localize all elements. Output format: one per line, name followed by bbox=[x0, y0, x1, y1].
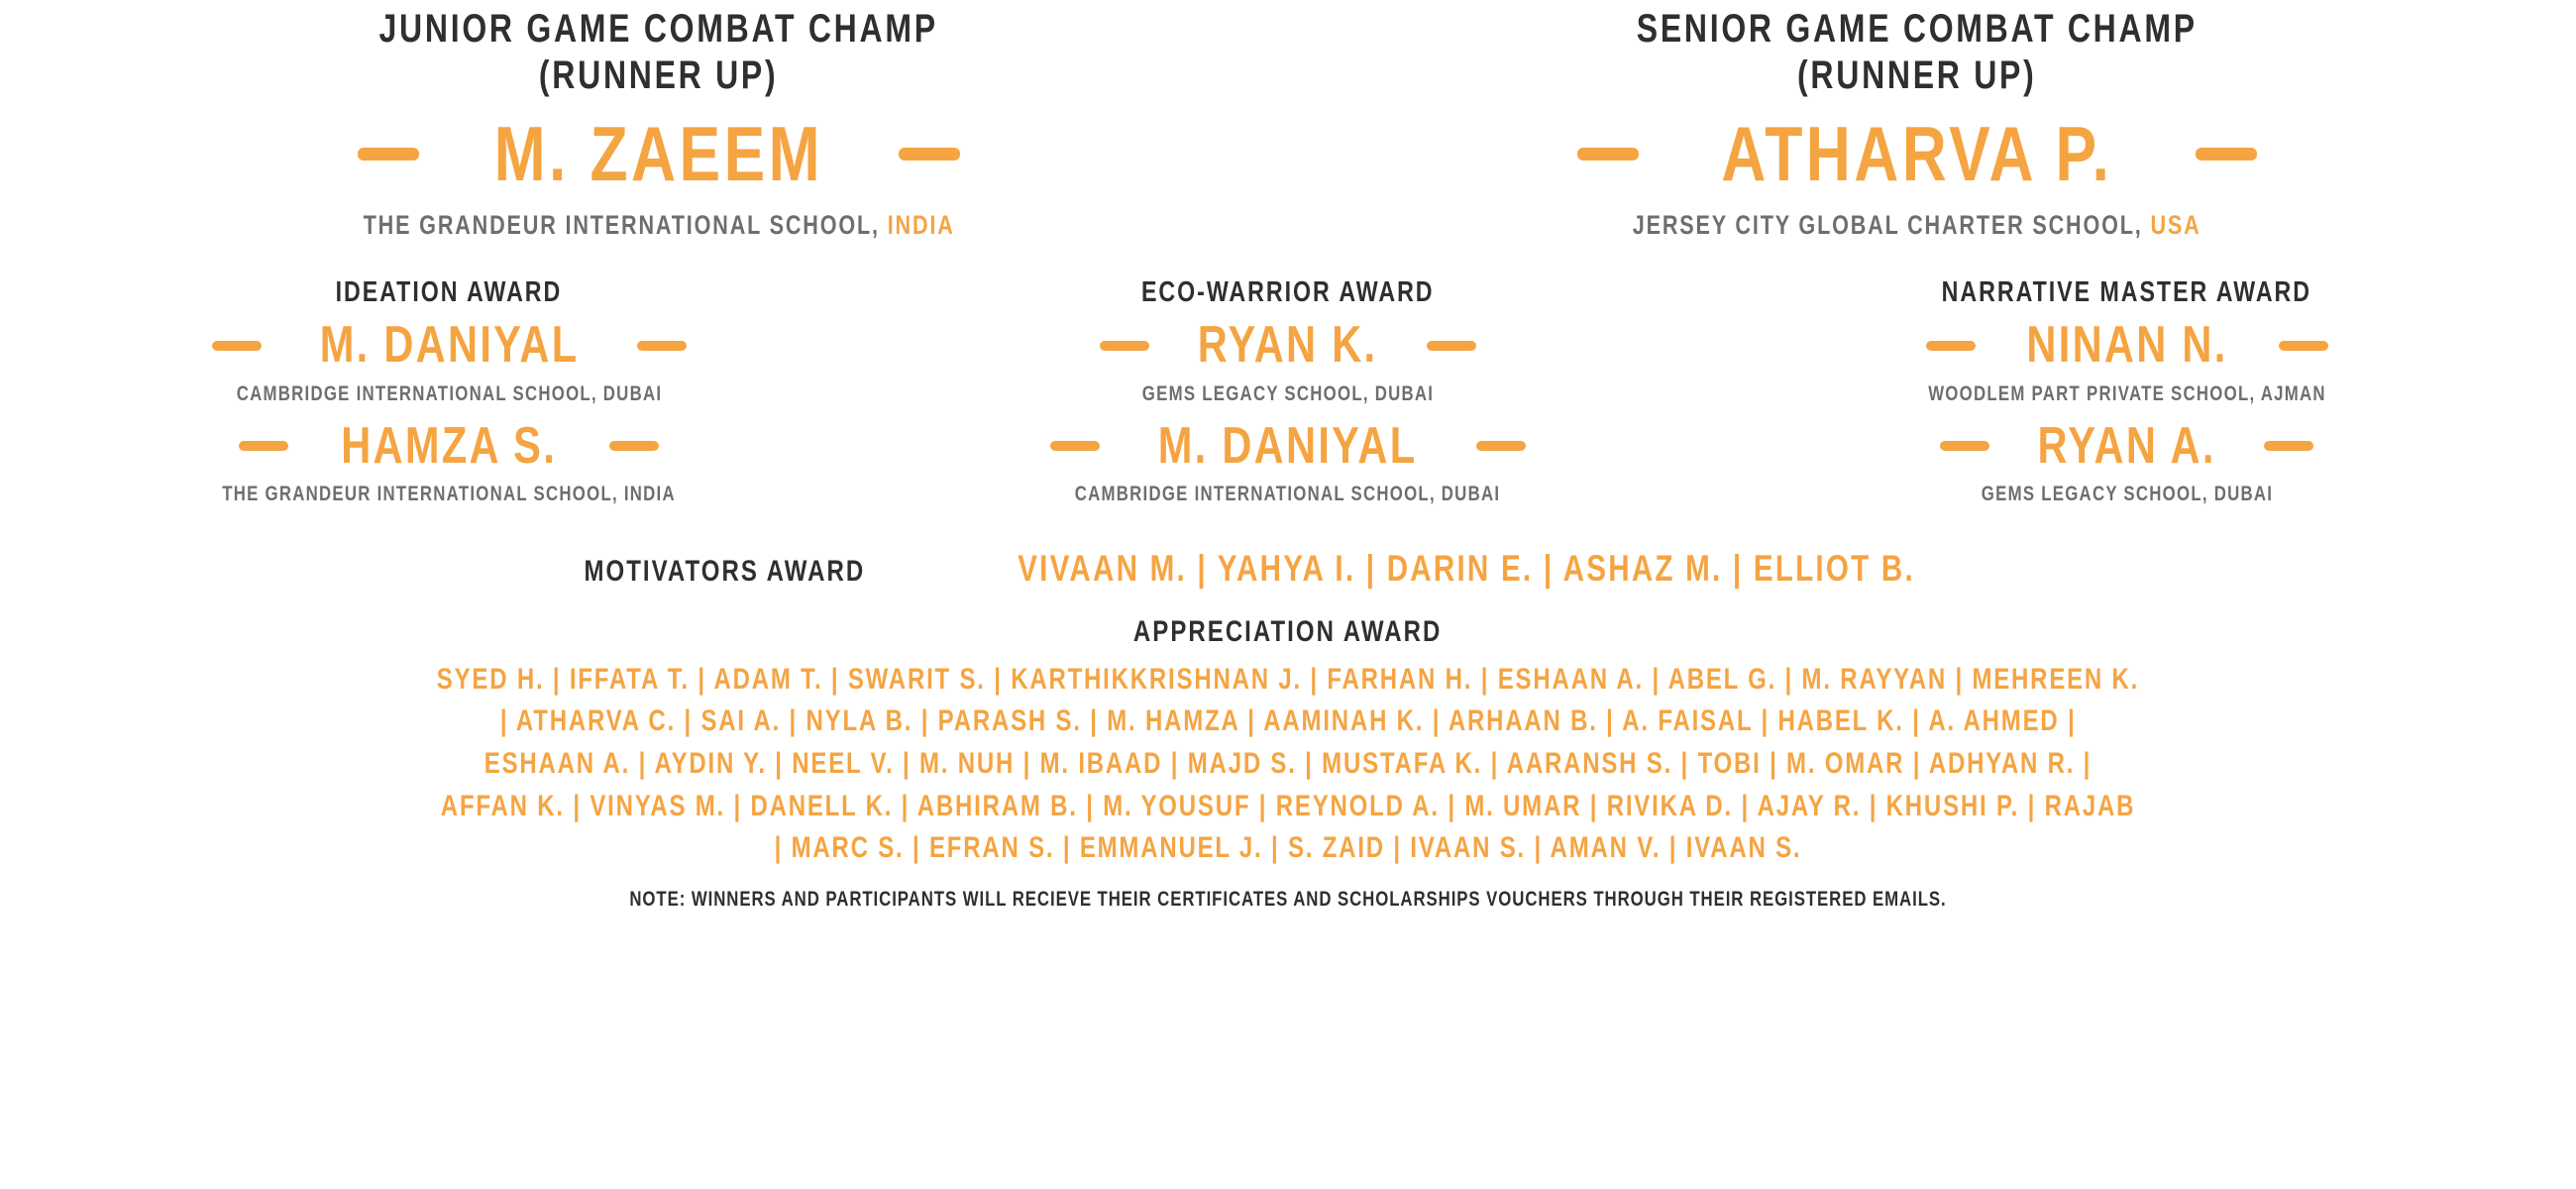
award-winner-school: WOODLEM PART PRIVATE SCHOOL, AJMAN bbox=[1928, 382, 2326, 406]
appreciation-names-line: | MARC S. | EFRAN S. | EMMANUEL J. | S. … bbox=[775, 827, 1802, 870]
dash-left-icon bbox=[1050, 441, 1100, 451]
appreciation-names-line: ESHAAN A. | AYDIN Y. | NEEL V. | M. NUH … bbox=[484, 743, 2092, 786]
champion-title-line2: (RUNNER UP) bbox=[1637, 53, 2198, 99]
school-location: USA bbox=[2151, 210, 2201, 240]
appreciation-names-block: SYED H. | IFFATA T. | ADAM T. | SWARIT S… bbox=[30, 659, 2546, 870]
school-name: JERSEY CITY GLOBAL CHARTER SCHOOL, bbox=[1633, 210, 2143, 240]
award-winner-school: THE GRANDEUR INTERNATIONAL SCHOOL, INDIA bbox=[223, 483, 677, 506]
award-title-narrative-master: NARRATIVE MASTER AWARD bbox=[1942, 276, 2311, 309]
award-winner-school: CAMBRIDGE INTERNATIONAL SCHOOL, DUBAI bbox=[237, 382, 663, 406]
award-name-row: M. DANIYAL bbox=[30, 317, 869, 374]
award-name-row: RYAN K. bbox=[869, 317, 1708, 374]
motivators-award-title: MOTIVATORS AWARD bbox=[585, 555, 866, 589]
dash-right-icon bbox=[1427, 341, 1476, 351]
school-location: INDIA bbox=[888, 210, 955, 240]
dash-left-icon bbox=[1940, 441, 1989, 451]
motivators-award-section: MOTIVATORS AWARD VIVAAN M. | YAHYA I. | … bbox=[30, 536, 2546, 590]
dash-left-icon bbox=[239, 441, 288, 451]
appreciation-award-title: APPRECIATION AWARD bbox=[1133, 615, 1442, 649]
champions-section: JUNIOR GAME COMBAT CHAMP (RUNNER UP) M. … bbox=[30, 0, 2546, 241]
award-winner-name: M. DANIYAL bbox=[1158, 418, 1418, 475]
award-name-row: NINAN N. bbox=[1707, 317, 2546, 374]
champion-name-senior: ATHARVA P. bbox=[1722, 115, 2113, 192]
award-title-eco-warrior: ECO-WARRIOR AWARD bbox=[1141, 276, 1435, 309]
dash-left-icon bbox=[1100, 341, 1149, 351]
dash-right-icon bbox=[2196, 148, 2257, 161]
champion-card-senior: SENIOR GAME COMBAT CHAMP (RUNNER UP) ATH… bbox=[1288, 6, 2546, 241]
award-entry: RYAN K. GEMS LEGACY SCHOOL, DUBAI bbox=[869, 317, 1708, 405]
award-entry: M. DANIYAL CAMBRIDGE INTERNATIONAL SCHOO… bbox=[869, 418, 1708, 506]
award-column-ideation: IDEATION AWARD M. DANIYAL CAMBRIDGE INTE… bbox=[30, 276, 869, 505]
award-winner-name: NINAN N. bbox=[2026, 317, 2227, 374]
award-column-narrative-master: NARRATIVE MASTER AWARD NINAN N. WOODLEM … bbox=[1707, 276, 2546, 505]
motivators-names-line: VIVAAN M. | YAHYA I. | DARIN E. | ASHAZ … bbox=[1018, 548, 1915, 590]
awards-results-board: JUNIOR GAME COMBAT CHAMP (RUNNER UP) M. … bbox=[0, 0, 2576, 1189]
dash-right-icon bbox=[2279, 341, 2328, 351]
award-entry: NINAN N. WOODLEM PART PRIVATE SCHOOL, AJ… bbox=[1707, 317, 2546, 405]
champion-school-junior: THE GRANDEUR INTERNATIONAL SCHOOL, INDIA bbox=[363, 210, 954, 241]
champion-title-line1: JUNIOR GAME COMBAT CHAMP bbox=[379, 6, 938, 53]
dash-left-icon bbox=[212, 341, 262, 351]
award-winner-name: RYAN A. bbox=[2038, 418, 2216, 475]
dash-left-icon bbox=[358, 148, 419, 161]
dash-left-icon bbox=[1577, 148, 1639, 161]
appreciation-names-line: AFFAN K. | VINYAS M. | DANELL K. | ABHIR… bbox=[441, 786, 2135, 828]
champion-school-senior: JERSEY CITY GLOBAL CHARTER SCHOOL, USA bbox=[1633, 210, 2201, 241]
champion-name-row-junior: M. ZAEEM bbox=[30, 115, 1288, 192]
champion-title-senior: SENIOR GAME COMBAT CHAMP (RUNNER UP) bbox=[1637, 6, 2198, 99]
award-winner-school: GEMS LEGACY SCHOOL, DUBAI bbox=[1981, 483, 2272, 506]
award-title-ideation: IDEATION AWARD bbox=[336, 276, 563, 309]
champion-card-junior: JUNIOR GAME COMBAT CHAMP (RUNNER UP) M. … bbox=[30, 6, 1288, 241]
award-entry: M. DANIYAL CAMBRIDGE INTERNATIONAL SCHOO… bbox=[30, 317, 869, 405]
award-entry: HAMZA S. THE GRANDEUR INTERNATIONAL SCHO… bbox=[30, 418, 869, 506]
award-winner-name: M. DANIYAL bbox=[319, 317, 579, 374]
champion-name-junior: M. ZAEEM bbox=[494, 115, 824, 192]
dash-right-icon bbox=[1476, 441, 1526, 451]
champion-name-row-senior: ATHARVA P. bbox=[1288, 115, 2546, 192]
award-column-eco-warrior: ECO-WARRIOR AWARD RYAN K. GEMS LEGACY SC… bbox=[869, 276, 1708, 505]
award-name-row: M. DANIYAL bbox=[869, 418, 1708, 475]
dash-right-icon bbox=[637, 341, 687, 351]
champion-title-line1: SENIOR GAME COMBAT CHAMP bbox=[1637, 6, 2198, 53]
school-name: THE GRANDEUR INTERNATIONAL SCHOOL, bbox=[363, 210, 879, 240]
dash-right-icon bbox=[609, 441, 659, 451]
footer-note: NOTE: WINNERS AND PARTICIPANTS WILL RECI… bbox=[281, 888, 2295, 912]
appreciation-names-line: SYED H. | IFFATA T. | ADAM T. | SWARIT S… bbox=[437, 659, 2139, 702]
award-winner-school: GEMS LEGACY SCHOOL, DUBAI bbox=[1142, 382, 1434, 406]
award-name-row: HAMZA S. bbox=[30, 418, 869, 475]
champion-title-junior: JUNIOR GAME COMBAT CHAMP (RUNNER UP) bbox=[379, 6, 938, 99]
appreciation-names-line: | ATHARVA C. | SAI A. | NYLA B. | PARASH… bbox=[500, 701, 2077, 743]
dash-left-icon bbox=[1926, 341, 1976, 351]
awards-columns-section: IDEATION AWARD M. DANIYAL CAMBRIDGE INTE… bbox=[30, 276, 2546, 505]
award-winner-name: HAMZA S. bbox=[341, 418, 557, 475]
award-name-row: RYAN A. bbox=[1707, 418, 2546, 475]
award-entry: RYAN A. GEMS LEGACY SCHOOL, DUBAI bbox=[1707, 418, 2546, 506]
dash-right-icon bbox=[2264, 441, 2313, 451]
award-winner-school: CAMBRIDGE INTERNATIONAL SCHOOL, DUBAI bbox=[1075, 483, 1501, 506]
champion-title-line2: (RUNNER UP) bbox=[379, 53, 938, 99]
appreciation-award-section: APPRECIATION AWARD SYED H. | IFFATA T. |… bbox=[30, 615, 2546, 870]
dash-right-icon bbox=[899, 148, 960, 161]
award-winner-name: RYAN K. bbox=[1198, 317, 1378, 374]
